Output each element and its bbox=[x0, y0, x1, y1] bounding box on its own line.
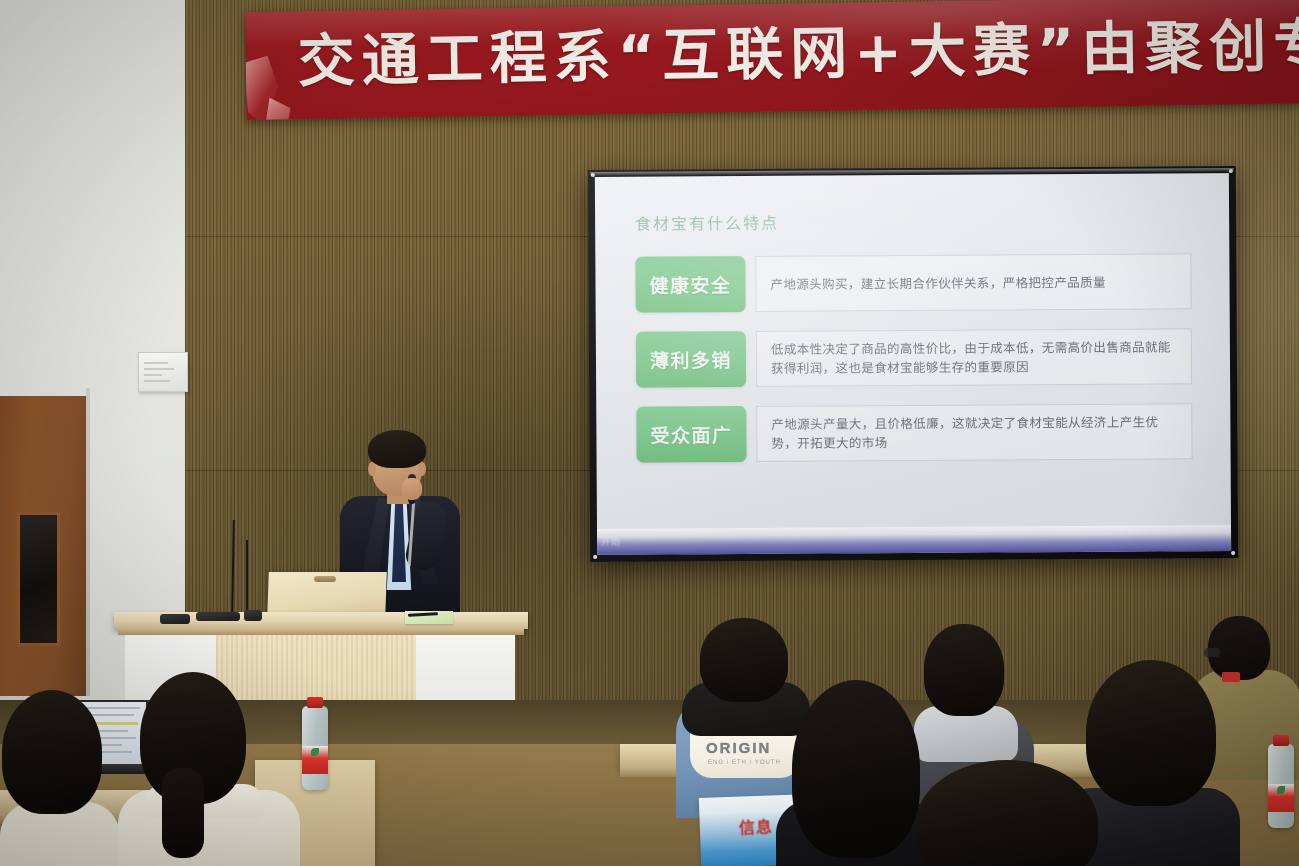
slide-row: 受众面广 产地源头产量大，且价格低廉，这就决定了食材宝能从经济上产生优势，开拓更… bbox=[636, 403, 1192, 462]
screen-corner-marker bbox=[1229, 169, 1233, 173]
slide-feature-rows: 健康安全 产地源头购买，建立长期合作伙伴关系，严格把控产品质量 薄利多销 低成本… bbox=[635, 253, 1192, 462]
audience-head bbox=[700, 618, 788, 702]
hoodie-sub-text: ENG / ETH / YOUTH bbox=[708, 760, 781, 766]
screen-corner-marker bbox=[1231, 551, 1235, 555]
wall-control-panel[interactable] bbox=[138, 352, 188, 392]
presenter-hand bbox=[402, 478, 422, 500]
bottle-cap bbox=[307, 697, 323, 708]
podium-device[interactable] bbox=[244, 610, 262, 621]
audience-ponytail bbox=[162, 768, 204, 858]
door-window bbox=[17, 512, 60, 646]
audience-bun-girl bbox=[0, 690, 118, 866]
feature-badge: 受众面广 bbox=[636, 406, 746, 463]
panel-line bbox=[144, 374, 162, 376]
leaf-icon bbox=[311, 748, 319, 756]
feature-description: 低成本性决定了商品的高性价比，由于成本低，无需高价出售商品就能获得利润，这也是食… bbox=[756, 328, 1192, 387]
hoodie-brand-text: ORIGIN bbox=[706, 740, 771, 757]
projection-screen: 食材宝有什么特点 健康安全 产地源头购买，建立长期合作伙伴关系，严格把控产品质量… bbox=[588, 166, 1238, 562]
event-banner: 交通工程系“互联网+大赛”由聚创专升 bbox=[245, 0, 1299, 120]
audience-head bbox=[924, 624, 1004, 716]
bottle-cap bbox=[1273, 735, 1289, 746]
desktop-taskbar[interactable]: 开始 bbox=[597, 525, 1231, 555]
feature-badge: 健康安全 bbox=[635, 256, 745, 313]
feature-description: 产地源头产量大，且价格低廉，这就决定了食材宝能从经济上产生优势，开拓更大的市场 bbox=[756, 403, 1192, 462]
podium-device[interactable] bbox=[196, 612, 240, 621]
feature-badge: 薄利多销 bbox=[636, 331, 746, 388]
slide-row: 健康安全 产地源头购买，建立长期合作伙伴关系，严格把控产品质量 bbox=[635, 253, 1191, 312]
panel-line bbox=[144, 368, 174, 370]
audience-hair bbox=[2, 690, 102, 814]
presenter-hair bbox=[368, 430, 426, 468]
audience-ponytail-front bbox=[916, 760, 1096, 866]
feature-description: 产地源头购买，建立长期合作伙伴关系，严格把控产品质量 bbox=[755, 253, 1191, 312]
leaf-icon bbox=[1277, 786, 1285, 794]
banner-title: 交通工程系“互联网+大赛”由聚创专升 bbox=[297, 7, 1299, 101]
lectern-latch bbox=[314, 576, 336, 582]
slide-row: 薄利多销 低成本性决定了商品的高性价比，由于成本低，无需高价出售商品就能获得利润… bbox=[636, 328, 1192, 387]
podium-device[interactable] bbox=[160, 614, 190, 624]
door-frame bbox=[86, 388, 90, 696]
presentation-slide: 食材宝有什么特点 健康安全 产地源头购买，建立长期合作伙伴关系，严格把控产品质量… bbox=[595, 173, 1231, 555]
gooseneck-microphone-icon bbox=[246, 540, 248, 616]
classroom-presentation-photo: 交通工程系“互联网+大赛”由聚创专升 食材宝有什么特点 健康安全 产地源头购买，… bbox=[0, 0, 1299, 866]
slide-content: 食材宝有什么特点 健康安全 产地源头购买，建立长期合作伙伴关系，严格把控产品质量… bbox=[595, 173, 1231, 463]
audience-white-coat-girl bbox=[118, 672, 298, 866]
presenter-ear bbox=[418, 462, 426, 476]
glasses-icon bbox=[1204, 648, 1220, 657]
water-bottle[interactable] bbox=[302, 706, 328, 790]
start-button[interactable]: 开始 bbox=[601, 535, 621, 548]
audience-hair bbox=[916, 760, 1098, 866]
audience-hair bbox=[792, 680, 920, 858]
panel-line bbox=[144, 362, 168, 364]
slide-title: 食材宝有什么特点 bbox=[635, 207, 1191, 234]
water-bottle[interactable] bbox=[1268, 744, 1294, 828]
audience-long-hair-center bbox=[776, 680, 936, 866]
screen-corner-marker bbox=[593, 555, 597, 559]
classroom-door[interactable] bbox=[0, 396, 89, 696]
screen-corner-marker bbox=[591, 173, 595, 177]
panel-line bbox=[144, 380, 170, 382]
audience-head bbox=[1086, 660, 1216, 806]
